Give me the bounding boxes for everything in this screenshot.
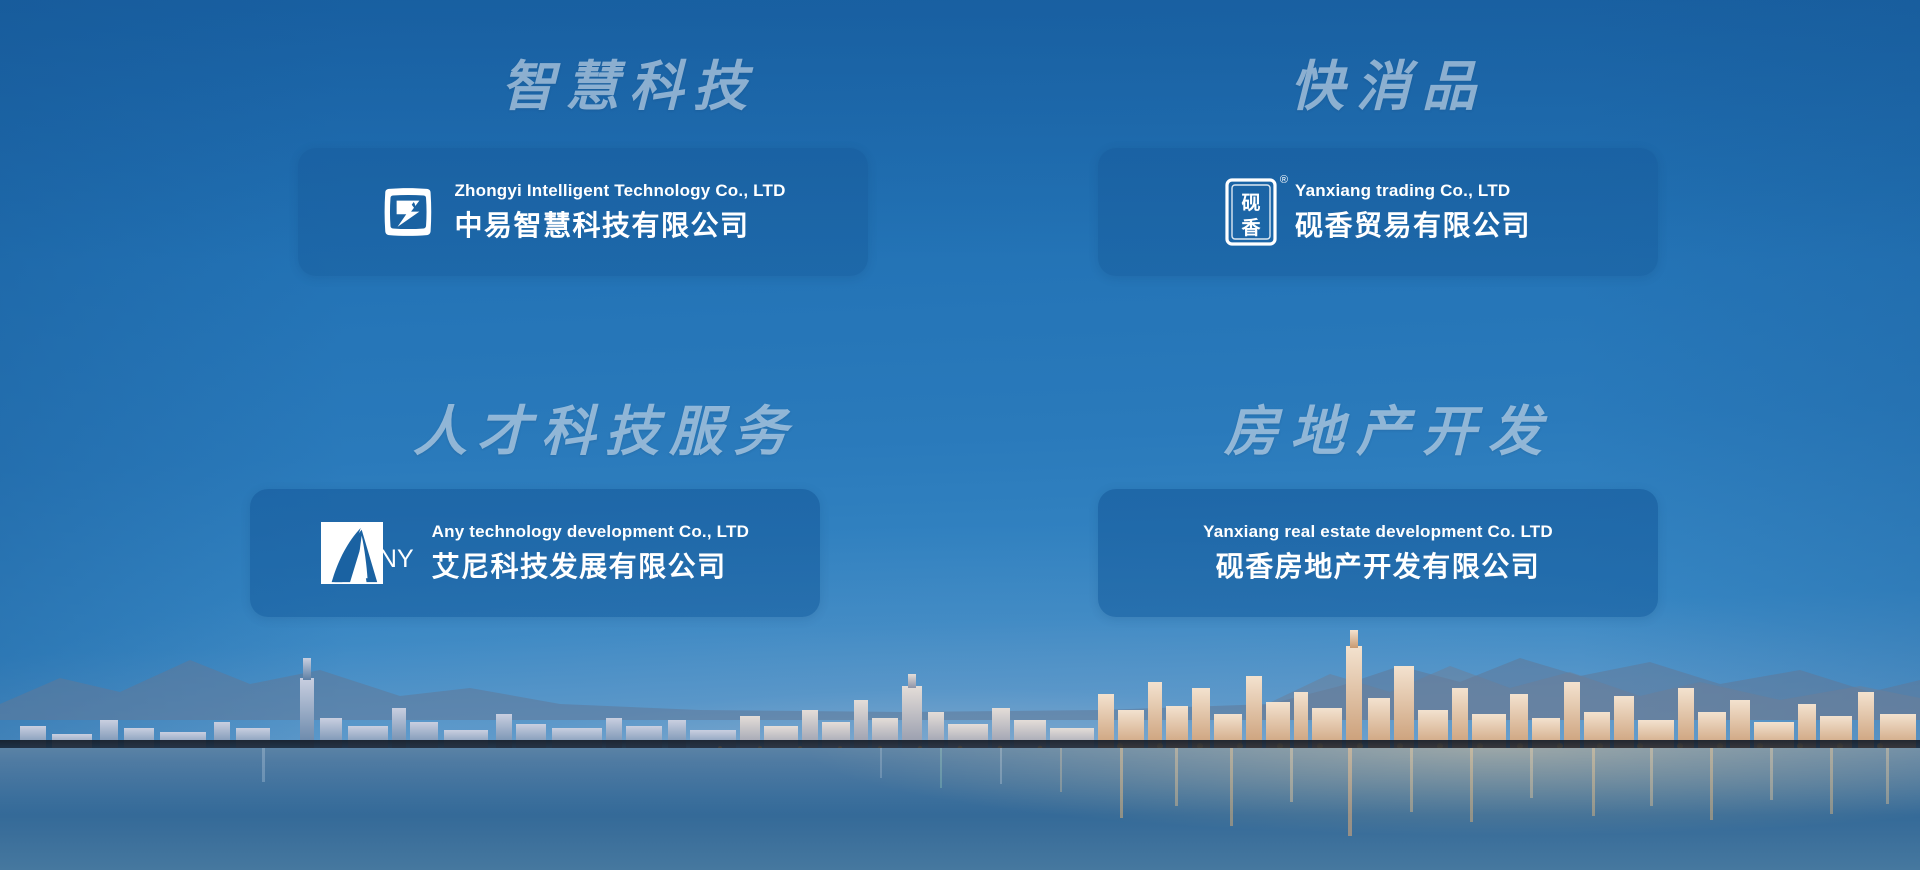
sector-cell-smart-technology: 智慧科技 Zhongyi Intelligent Technology Co.,…	[240, 60, 960, 405]
company-name-cn: 艾尼科技发展有限公司	[432, 545, 749, 585]
company-name-cn: 砚香房地产开发有限公司	[1216, 545, 1541, 585]
sector-cell-fmcg: 快消品 砚 香 ® Yanxiang trading Co., LTD	[960, 60, 1680, 405]
sector-cell-talent-services: 人才科技服务 NY A	[240, 405, 960, 750]
company-name-en: Yanxiang real estate development Co. LTD	[1203, 522, 1553, 542]
company-card-yanxiang-real-estate[interactable]: Yanxiang real estate development Co. LTD…	[1098, 489, 1658, 617]
company-card-any-technology[interactable]: NY Any technology development Co., LTD 艾…	[250, 489, 820, 617]
seal-glyph-yan: 砚	[1241, 192, 1260, 214]
business-sectors-grid: 智慧科技 Zhongyi Intelligent Technology Co.,…	[0, 0, 1920, 870]
company-name-cn: 砚香贸易有限公司	[1295, 204, 1531, 244]
company-name-en: Yanxiang trading Co., LTD	[1295, 181, 1531, 201]
yanxiang-seal-logo: 砚 香 ®	[1225, 178, 1277, 246]
section-title-real-estate: 房地产开发	[1098, 405, 1680, 459]
section-title-fmcg: 快消品	[1098, 60, 1680, 114]
zhongyi-seal-logo	[380, 184, 436, 240]
company-name-en: Any technology development Co., LTD	[432, 522, 749, 542]
company-card-yanxiang-trading[interactable]: 砚 香 ® Yanxiang trading Co., LTD 砚香贸易有限公司	[1098, 148, 1658, 276]
section-title-smart-technology: 智慧科技	[298, 60, 960, 114]
seal-glyph-xiang: 香	[1240, 217, 1261, 239]
any-mountain-logo: NY	[321, 522, 414, 584]
company-name-en: Zhongyi Intelligent Technology Co., LTD	[454, 181, 785, 201]
company-name-cn: 中易智慧科技有限公司	[454, 204, 785, 244]
sector-cell-real-estate: 房地产开发 Yanxiang real estate development C…	[960, 405, 1680, 750]
any-logo-text: NY	[379, 547, 414, 584]
section-title-talent-services: 人才科技服务	[250, 405, 960, 459]
registered-trademark-icon: ®	[1280, 175, 1288, 186]
company-card-zhongyi[interactable]: Zhongyi Intelligent Technology Co., LTD …	[298, 148, 868, 276]
